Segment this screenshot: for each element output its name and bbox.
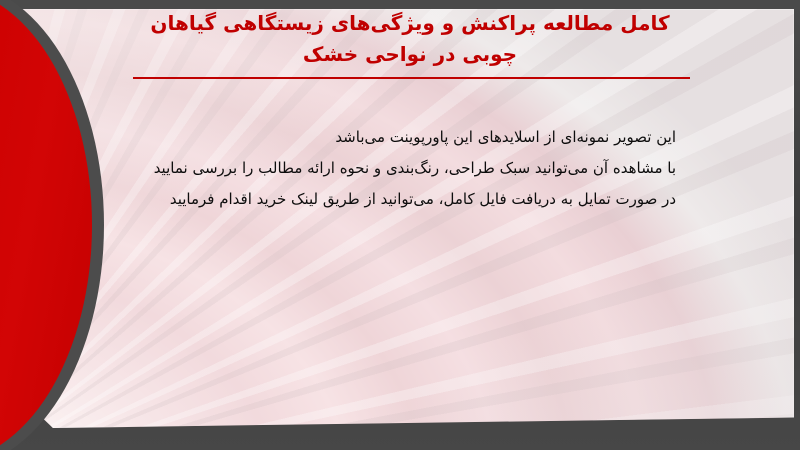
body-line-1: این تصویر نمونه‌ای از اسلایدهای این پاور… bbox=[116, 122, 676, 153]
slide-title: کامل مطالعه پراکنش و ویژگی‌های زیستگاهی … bbox=[120, 8, 700, 70]
slide-content-panel bbox=[18, 9, 794, 428]
body-line-2: با مشاهده آن می‌توانید سبک طراحی، رنگ‌بن… bbox=[116, 153, 676, 184]
slide-body-text: این تصویر نمونه‌ای از اسلایدهای این پاور… bbox=[116, 122, 676, 215]
panel-vignette bbox=[18, 9, 794, 428]
title-underline-rule bbox=[133, 77, 690, 79]
body-line-3: در صورت تمایل به دریافت فایل کامل، می‌تو… bbox=[116, 184, 676, 215]
presentation-slide: کامل مطالعه پراکنش و ویژگی‌های زیستگاهی … bbox=[0, 0, 800, 450]
slide-title-line-1: کامل مطالعه پراکنش و ویژگی‌های زیستگاهی … bbox=[120, 8, 700, 39]
panel-arc-texture bbox=[18, 9, 794, 428]
slide-title-line-2: چوبی در نواحی خشک bbox=[120, 39, 700, 70]
